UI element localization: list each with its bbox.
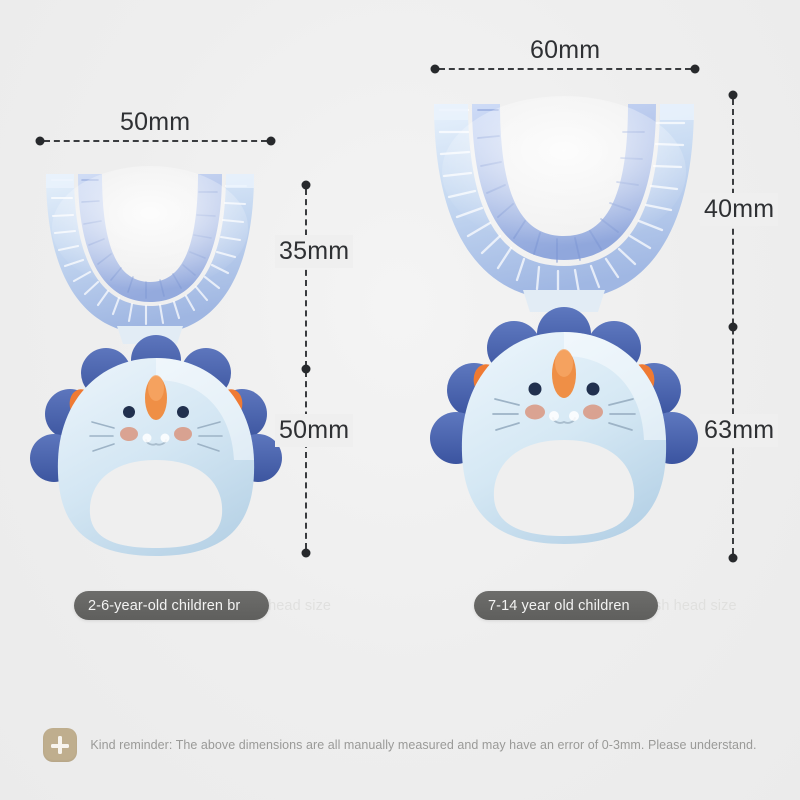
dimension-endpoint <box>267 136 276 145</box>
dimension-endpoint <box>36 136 45 145</box>
head-height-label-small: 35mm <box>275 235 353 268</box>
height-dimension-line-large <box>728 95 737 558</box>
handle-height-label-small: 50mm <box>275 414 353 447</box>
handle-height-label-large: 63mm <box>700 414 778 447</box>
width-dimension-line-large <box>435 64 695 73</box>
dimension-endpoint <box>728 554 737 563</box>
footer-reminder-text: Kind reminder: The above dimensions are … <box>90 738 756 752</box>
dimension-endpoint <box>691 64 700 73</box>
dimension-endpoint <box>728 91 737 100</box>
width-label-small: 50mm <box>120 108 190 137</box>
product-large: 60mm <box>400 0 800 640</box>
age-label-large[interactable]: 7-14 year old children <box>474 591 658 620</box>
product-small: 50mm <box>0 0 340 640</box>
width-label-large: 60mm <box>530 36 600 65</box>
dimension-midpoint <box>301 365 310 374</box>
dimension-endpoint <box>301 549 310 558</box>
handle-large <box>428 290 700 558</box>
brush-head-large <box>426 86 702 318</box>
handle-small <box>28 318 288 570</box>
plus-icon <box>43 728 77 762</box>
dimension-endpoint <box>301 181 310 190</box>
dimension-rule <box>44 140 267 142</box>
age-label-small[interactable]: 2-6-year-old children br <box>74 591 269 620</box>
size-chart-canvas: 50mm <box>0 0 800 800</box>
dimension-midpoint <box>728 322 737 331</box>
dimension-rule <box>439 68 691 70</box>
plus-icon-vertical-bar <box>58 736 62 754</box>
head-height-label-large: 40mm <box>700 193 778 226</box>
width-dimension-line-small <box>40 136 271 145</box>
footer-note: Kind reminder: The above dimensions are … <box>0 712 800 778</box>
dimension-endpoint <box>431 64 440 73</box>
